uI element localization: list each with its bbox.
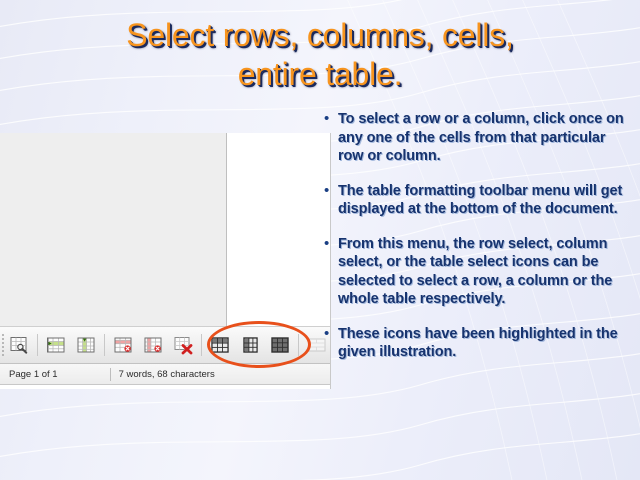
delete-table-icon[interactable] <box>170 332 196 358</box>
bullet-marker-icon: • <box>322 235 338 253</box>
select-table-icon[interactable] <box>267 332 293 358</box>
status-word-count: 7 words, 68 characters <box>119 369 215 380</box>
bullet-text: These icons have been highlighted in the… <box>338 325 626 362</box>
list-item: • To select a row or a column, click onc… <box>322 110 626 166</box>
delete-row-icon[interactable] <box>110 332 136 358</box>
toolbar-separator <box>37 334 38 356</box>
list-item: • The table formatting toolbar menu will… <box>322 182 626 219</box>
insert-row-icon[interactable] <box>43 332 69 358</box>
toolbar-drag-handle[interactable] <box>2 333 4 357</box>
select-row-icon[interactable] <box>207 332 233 358</box>
bullet-marker-icon: • <box>322 325 338 343</box>
document-canvas-white <box>228 133 331 326</box>
page-title: Select rows, columns, cells, entire tabl… <box>24 16 616 94</box>
list-item: • From this menu, the row select, column… <box>322 235 626 309</box>
toolbar-separator <box>298 334 299 356</box>
bullet-text: The table formatting toolbar menu will g… <box>338 182 626 219</box>
table-formatting-toolbar[interactable] <box>0 326 331 364</box>
list-item: • These icons have been highlighted in t… <box>322 325 626 362</box>
select-column-icon[interactable] <box>237 332 263 358</box>
delete-column-icon[interactable] <box>140 332 166 358</box>
title-line-1: Select rows, columns, cells, <box>24 16 616 55</box>
toolbar-separator <box>104 334 105 356</box>
status-bar: Page 1 of 1 7 words, 68 characters <box>0 364 331 385</box>
document-canvas-gray <box>0 133 227 326</box>
insert-column-icon[interactable] <box>73 332 99 358</box>
status-divider <box>110 368 111 381</box>
bullet-marker-icon: • <box>322 110 338 128</box>
bullet-list: • To select a row or a column, click onc… <box>322 110 626 378</box>
title-line-2: entire table. <box>24 55 616 94</box>
slide-canvas: Select rows, columns, cells, entire tabl… <box>0 0 640 480</box>
bullet-text: To select a row or a column, click once … <box>338 110 626 166</box>
bullet-text: From this menu, the row select, column s… <box>338 235 626 309</box>
bullet-marker-icon: • <box>322 182 338 200</box>
embedded-application-screenshot: Page 1 of 1 7 words, 68 characters <box>0 133 331 389</box>
toolbar-separator <box>201 334 202 356</box>
status-page-info: Page 1 of 1 <box>0 369 58 380</box>
table-properties-icon[interactable] <box>6 332 32 358</box>
